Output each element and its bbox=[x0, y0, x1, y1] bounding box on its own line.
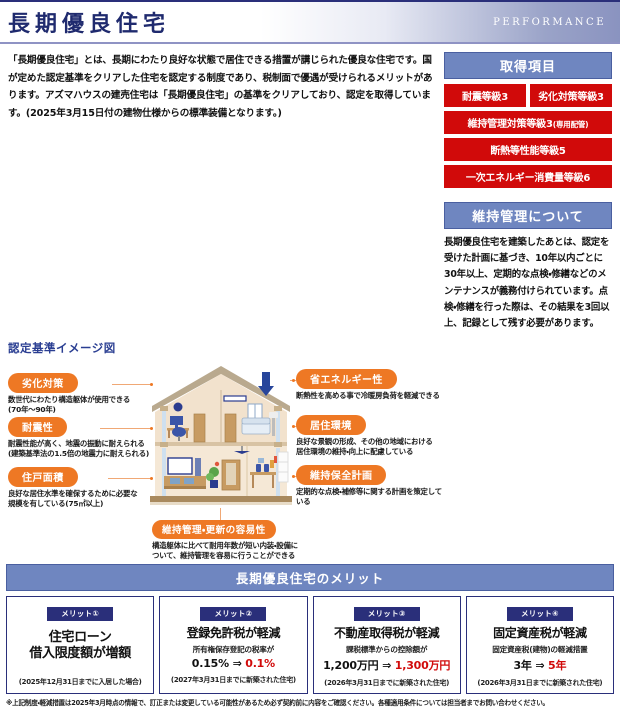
grade-badge-maintenance: 維持管理対策等級3(専用配管) bbox=[444, 111, 612, 134]
house-cutaway-illustration bbox=[146, 360, 296, 512]
merit-tag: メリット② bbox=[200, 607, 266, 621]
page-title: 長期優良住宅 bbox=[8, 6, 170, 38]
acquired-items-list: 耐震等級3 劣化対策等級3 維持管理対策等級3(専用配管) 断熱等性能等級5 一… bbox=[444, 84, 612, 188]
house-svg bbox=[146, 360, 296, 512]
callout-maintenance-plan: 維持保全計画 定期的な点検・補修等に関する計画を策定している bbox=[296, 464, 442, 508]
merit-card-3: メリット③ 不動産取得税が軽減 課税標準からの控除額が 1,200万円 ⇒ 1,… bbox=[313, 596, 461, 694]
callout-seismic: 耐震性 耐震性能が高く、地震の振動に耐えられる (建築基準法の1.5倍の地震力に… bbox=[8, 416, 166, 460]
certification-diagram: 劣化対策 数世代にわたり構造躯体が使用できる (70年〜90年) 耐震性 耐震性… bbox=[4, 358, 444, 558]
intro-paragraph: 「長期優良住宅」とは、長期にわたり良好な状態で居住できる措置が講じられた優良な住… bbox=[8, 52, 436, 123]
merit-subtitle: 所有権保存登記の税率が bbox=[163, 644, 303, 655]
callout-pill-label: 耐震性 bbox=[8, 417, 67, 437]
callout-energy-saving: 省エネルギー性 断熱性を高める事で冷暖房負荷を軽減できる bbox=[296, 368, 442, 401]
grade-row: 耐震等級3 劣化対策等級3 bbox=[444, 84, 612, 107]
maintenance-body: 長期優良住宅を建築したあとは、認定を受けた計画に基づき、10年以内ごとに30年以… bbox=[444, 235, 612, 332]
diagram-title: 認定基準イメージ図 bbox=[8, 340, 620, 356]
merit-title: 固定資産税が軽減 bbox=[470, 626, 610, 641]
intro-text-block: 「長期優良住宅」とは、長期にわたり良好な状態で居住できる措置が講じられた優良な住… bbox=[8, 52, 436, 332]
merit-note: (2027年3月31日までに新築された住宅) bbox=[163, 675, 303, 685]
callout-description: 構造躯体に比べて耐用年数が短い内装・設備に ついて、維持管理を容易に行うことがで… bbox=[152, 541, 328, 562]
merit-value-after: 1,300万円 bbox=[395, 659, 450, 672]
merit-value-before: 1,200万円 bbox=[323, 659, 378, 672]
merit-card-1: メリット① 住宅ローン 借入限度額が増額 (2025年12月31日までに入居した… bbox=[6, 596, 154, 694]
acquired-items-heading: 取得項目 bbox=[444, 52, 612, 79]
callout-description: 耐震性能が高く、地震の振動に耐えられる (建築基準法の1.5倍の地震力に耐えられ… bbox=[8, 439, 166, 460]
merit-title: 住宅ローン 借入限度額が増額 bbox=[10, 630, 150, 663]
merit-value-before: 3年 bbox=[513, 659, 531, 672]
callout-description: 数世代にわたり構造躯体が使用できる (70年〜90年) bbox=[8, 395, 158, 416]
merit-tag: メリット④ bbox=[507, 607, 573, 621]
maintenance-heading: 維持管理について bbox=[444, 202, 612, 229]
merit-value-after: 0.1% bbox=[245, 657, 275, 670]
callout-pill-label: 維持管理・更新の容易性 bbox=[152, 520, 276, 539]
upper-section: 「長期優良住宅」とは、長期にわたり良好な状態で居住できる措置が講じられた優良な住… bbox=[0, 44, 620, 332]
callout-description: 良好な景観の形成、その他の地域における 居住環境の維持・向上に配慮している bbox=[296, 437, 444, 458]
merit-title: 登録免許税が軽減 bbox=[163, 626, 303, 641]
merit-card-4: メリット④ 固定資産税が軽減 固定資産税(建物)の軽減措置 3年 ⇒ 5年 (2… bbox=[466, 596, 614, 694]
callout-pill-label: 省エネルギー性 bbox=[296, 369, 397, 389]
callout-living-environment: 居住環境 良好な景観の形成、その他の地域における 居住環境の維持・向上に配慮して… bbox=[296, 414, 444, 458]
callout-ease-of-maintenance: 維持管理・更新の容易性 構造躯体に比べて耐用年数が短い内装・設備に ついて、維持… bbox=[152, 518, 328, 562]
merit-value: 1,200万円 ⇒ 1,300万円 bbox=[317, 657, 457, 673]
grade-badge-primary-energy: 一次エネルギー消費量等級6 bbox=[444, 165, 612, 188]
grade-note: (専用配管) bbox=[553, 120, 589, 129]
merit-tag: メリット① bbox=[47, 607, 113, 621]
merits-band-title: 長期優良住宅のメリット bbox=[6, 564, 614, 591]
merit-note: (2026年3月31日までに新築された住宅) bbox=[317, 678, 457, 688]
header-subtitle: PERFORMANCE bbox=[493, 17, 610, 28]
grade-badge-insulation: 断熱等性能等級5 bbox=[444, 138, 612, 161]
callout-pill-label: 居住環境 bbox=[296, 415, 366, 435]
merit-value: 3年 ⇒ 5年 bbox=[470, 657, 610, 673]
merit-title: 不動産取得税が軽減 bbox=[317, 626, 457, 641]
right-rail: 取得項目 耐震等級3 劣化対策等級3 維持管理対策等級3(専用配管) 断熱等性能… bbox=[444, 52, 612, 332]
merit-subtitle: 固定資産税(建物)の軽減措置 bbox=[470, 644, 610, 655]
grade-badge-seismic: 耐震等級3 bbox=[444, 84, 526, 107]
grade-label: 断熱等性能等級5 bbox=[490, 146, 565, 157]
merit-value-before: 0.15% bbox=[192, 657, 229, 670]
callout-description: 断熱性を高める事で冷暖房負荷を軽減できる bbox=[296, 391, 442, 402]
page-footnote: ※上記制度・軽減措置は2025年3月時点の情報で、訂正または変更している可能性が… bbox=[6, 699, 614, 707]
grade-label: 耐震等級3 bbox=[462, 92, 508, 103]
grade-label: 維持管理対策等級3 bbox=[468, 119, 553, 130]
callout-description: 定期的な点検・補修等に関する計画を策定している bbox=[296, 487, 442, 508]
callout-pill-label: 劣化対策 bbox=[8, 373, 78, 393]
callout-degradation: 劣化対策 数世代にわたり構造躯体が使用できる (70年〜90年) bbox=[8, 372, 158, 416]
merit-value-arrow: ⇒ bbox=[535, 659, 544, 672]
merits-grid: メリット① 住宅ローン 借入限度額が増額 (2025年12月31日までに入居した… bbox=[6, 596, 614, 694]
grade-label: 劣化対策等級3 bbox=[538, 92, 604, 103]
page-header: 長期優良住宅 PERFORMANCE bbox=[0, 0, 620, 44]
callout-pill-label: 住戸面積 bbox=[8, 467, 78, 487]
merit-note: (2026年3月31日までに新築された住宅) bbox=[470, 678, 610, 688]
grade-badge-degradation: 劣化対策等級3 bbox=[530, 84, 612, 107]
merit-tag: メリット③ bbox=[354, 607, 420, 621]
merit-subtitle: 課税標準からの控除額が bbox=[317, 644, 457, 655]
callout-pill-label: 維持保全計画 bbox=[296, 465, 386, 485]
merit-card-2: メリット② 登録免許税が軽減 所有権保存登記の税率が 0.15% ⇒ 0.1% … bbox=[159, 596, 307, 694]
merit-value-after: 5年 bbox=[548, 659, 566, 672]
merit-note: (2025年12月31日までに入居した場合) bbox=[10, 677, 150, 687]
merit-value: 0.15% ⇒ 0.1% bbox=[163, 657, 303, 670]
merit-value-arrow: ⇒ bbox=[233, 657, 242, 670]
merit-value-arrow: ⇒ bbox=[382, 659, 391, 672]
grade-label: 一次エネルギー消費量等級6 bbox=[466, 173, 590, 184]
callout-description: 良好な居住水準を確保するために必要な 規模を有している(75㎡以上) bbox=[8, 489, 160, 510]
